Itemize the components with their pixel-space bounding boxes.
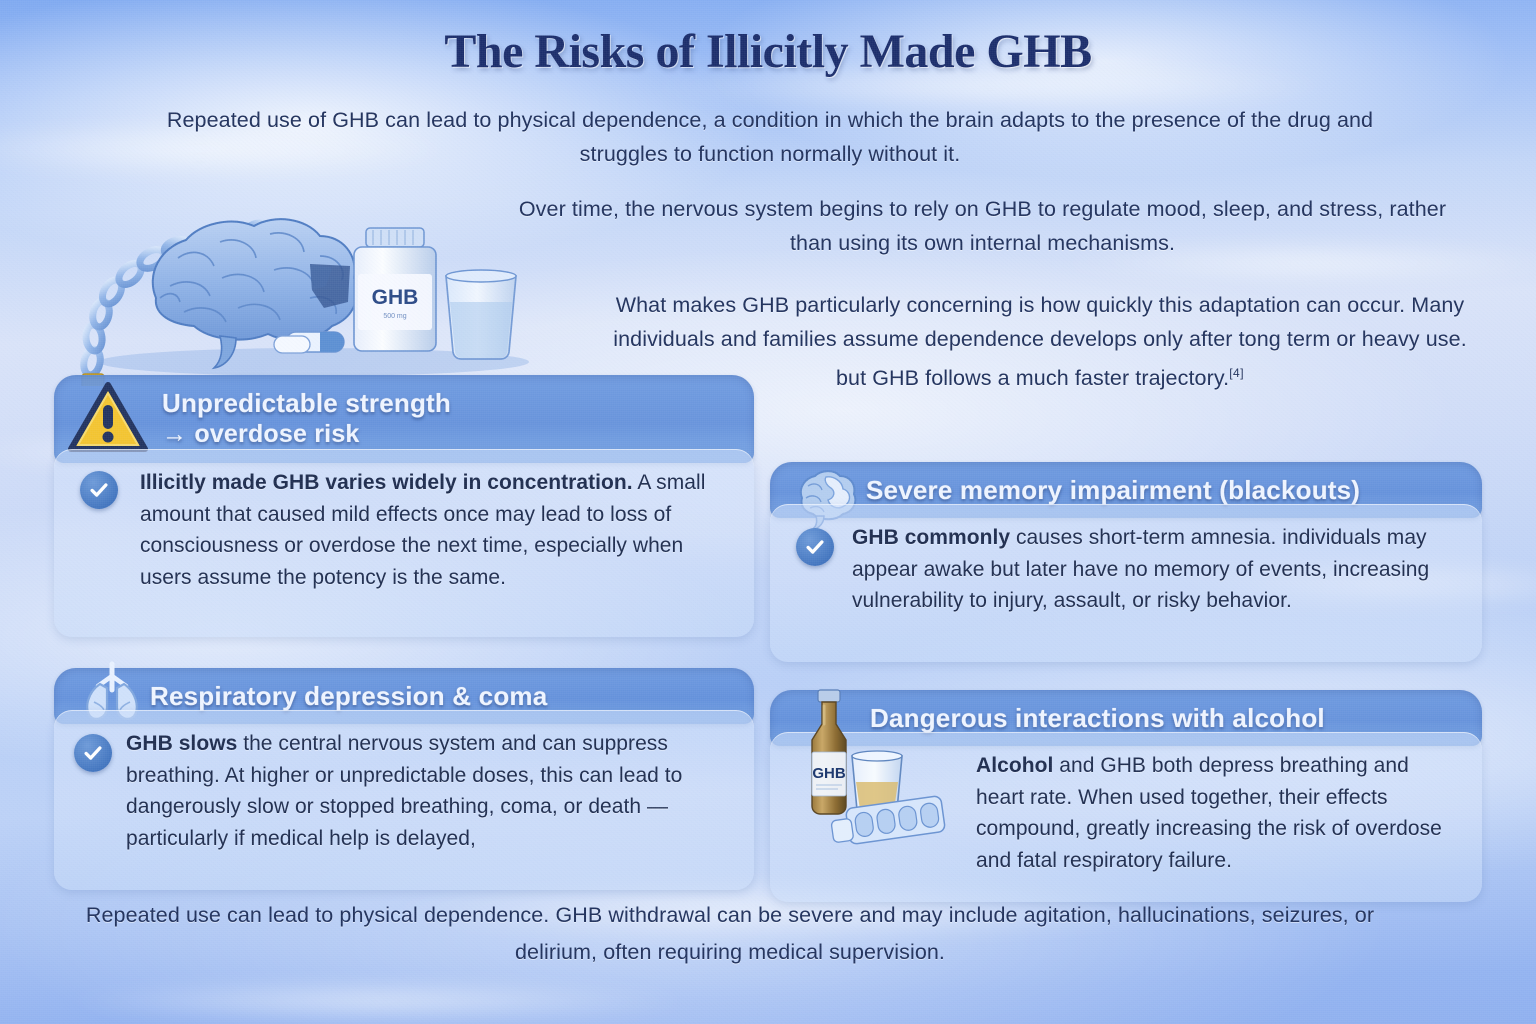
card-subtitle-text: → overdose risk <box>162 419 451 450</box>
page-title: The Risks of Illicitly Made GHB <box>0 24 1536 79</box>
card-body-text: GHB commonly causes short-term amnesia. … <box>852 522 1460 617</box>
check-badge <box>796 528 834 566</box>
check-badge <box>74 734 112 772</box>
card-body-lead: Alcohol <box>976 754 1053 777</box>
blister-pack-icon <box>830 796 946 847</box>
infographic-poster: The Risks of Illicitly Made GHB Repeated… <box>0 0 1536 1024</box>
card-dangerous-interactions-alcohol: Dangerous interactions with alcohol Alco… <box>770 690 1482 902</box>
card-body: Illicitly made GHB varies widely in conc… <box>54 449 754 637</box>
card-title-group: Unpredictable strength → overdose risk <box>162 388 451 450</box>
check-icon <box>804 536 826 558</box>
card-body-text: GHB slows the central nervous system and… <box>126 728 732 854</box>
check-icon <box>82 742 104 764</box>
intro-paragraph-2: Over time, the nervous system begins to … <box>500 192 1465 260</box>
card-title-text: Respiratory depression & coma <box>150 681 547 712</box>
citation-marker: [4] <box>1229 366 1244 380</box>
card-respiratory-depression: Respiratory depression & coma GHB slows … <box>54 668 754 890</box>
check-icon <box>88 479 110 501</box>
card-severe-memory-impairment: Severe memory impairment (blackouts) GHB… <box>770 462 1482 662</box>
card-body: GHB slows the central nervous system and… <box>54 710 754 890</box>
alcohol-bottle-glass-blister-illustration: GHB <box>786 684 966 864</box>
card-unpredictable-strength: Unpredictable strength → overdose risk I… <box>54 375 754 637</box>
chained-brain-illustration: GHB 500 mg <box>74 186 534 386</box>
footer-note: Repeated use can lead to physical depend… <box>80 897 1380 971</box>
svg-text:GHB: GHB <box>372 286 419 309</box>
card-body-text: Illicitly made GHB varies widely in conc… <box>140 467 732 593</box>
card-title-text: Severe memory impairment (blackouts) <box>866 475 1360 506</box>
card-body: GHB commonly causes short-term amnesia. … <box>770 504 1482 662</box>
card-title-text: Unpredictable strength <box>162 388 451 418</box>
check-badge <box>80 471 118 509</box>
svg-text:500 mg: 500 mg <box>383 313 406 320</box>
card-body-lead: Illicitly made GHB varies widely in conc… <box>140 471 633 494</box>
cloud-streak <box>60 980 700 1022</box>
card-body-text: Alcohol and GHB both depress breathing a… <box>976 750 1460 876</box>
ghb-bottle-icon: GHB 500 mg <box>354 228 436 351</box>
intro-paragraph-1: Repeated use of GHB can lead to physical… <box>120 103 1420 171</box>
hero-illustration: GHB 500 mg <box>74 186 534 386</box>
card-body-lead: GHB slows <box>126 732 237 755</box>
beer-bottle-icon: GHB <box>812 690 846 814</box>
svg-text:GHB: GHB <box>812 765 846 782</box>
card-body-lead: GHB commonly <box>852 526 1010 549</box>
water-glass-icon <box>446 270 516 359</box>
